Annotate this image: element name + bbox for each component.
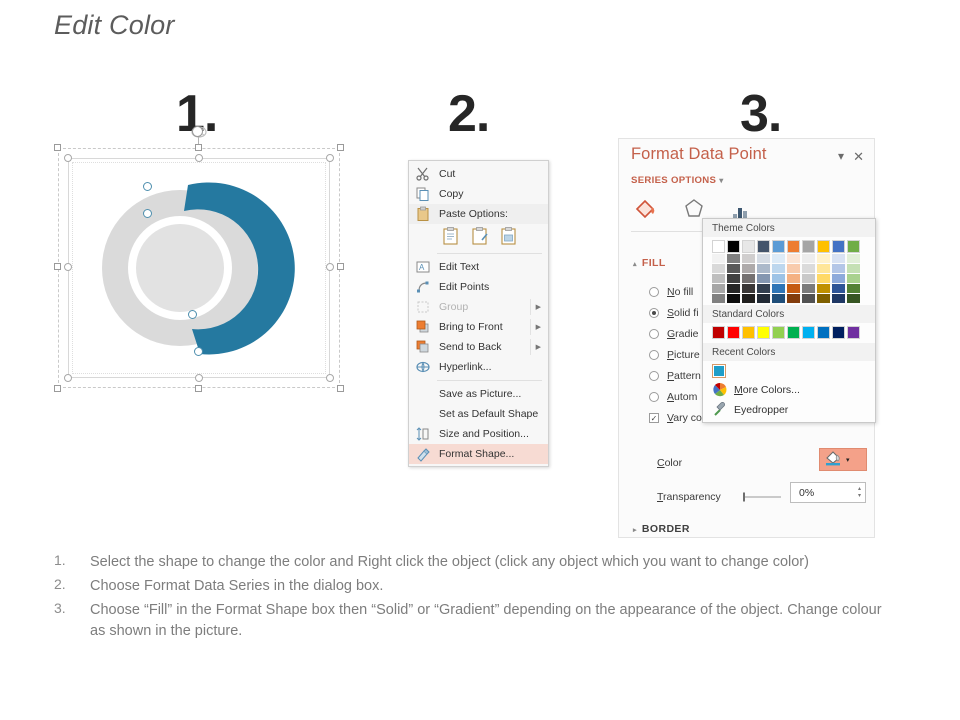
inner-handle-n[interactable] (195, 154, 203, 162)
theme-color-column[interactable] (772, 240, 785, 303)
chart-inner-disc (136, 224, 224, 312)
arc-handle-top[interactable] (143, 182, 152, 191)
size-position-icon (415, 426, 431, 442)
theme-color-column[interactable] (742, 240, 755, 303)
spinner-arrows[interactable]: ▴ ▾ (858, 484, 861, 501)
fill-option-pattern[interactable]: Pattern (649, 365, 702, 386)
scissors-icon (415, 166, 431, 182)
theme-color-variant-swatch[interactable] (727, 294, 740, 303)
fill-option-label: Solid fi (667, 307, 699, 319)
menu-item-eyedropper[interactable]: Eyedropper (703, 400, 875, 420)
border-label: BORDER (642, 523, 690, 535)
fill-option-picture[interactable]: Picture (649, 344, 702, 365)
format-shape-icon (415, 446, 431, 462)
standard-color-swatch[interactable] (832, 326, 845, 339)
clipboard-icon (415, 206, 431, 222)
resize-handle-sw[interactable] (54, 385, 61, 392)
inner-handle-w[interactable] (64, 263, 72, 271)
theme-color-variant-swatch[interactable] (802, 294, 815, 303)
instruction-number: 2. (54, 576, 90, 597)
fill-option-automatic[interactable]: Autom (649, 386, 702, 407)
theme-color-variant-swatch[interactable] (787, 294, 800, 303)
theme-color-column[interactable] (712, 240, 725, 303)
submenu-divider (530, 339, 531, 355)
theme-color-swatch[interactable] (847, 240, 860, 253)
theme-color-variant-swatch[interactable] (787, 254, 800, 263)
menu-separator (437, 253, 542, 254)
menu-item-cut[interactable]: Cut (409, 164, 548, 184)
fill-label: FILL (642, 257, 666, 269)
theme-color-variant-swatch[interactable] (772, 264, 785, 273)
color-picker-dropdown[interactable]: Theme Colors Standard Colors Recent Colo… (702, 218, 876, 423)
menu-item-label: Edit Points (439, 281, 489, 293)
inner-handle-s[interactable] (195, 374, 203, 382)
theme-color-swatch[interactable] (802, 240, 815, 253)
edit-text-icon: A (415, 259, 431, 275)
chevron-right-icon: ▶ (536, 303, 541, 311)
theme-color-variant-swatch[interactable] (742, 264, 755, 273)
theme-color-column[interactable] (817, 240, 830, 303)
standard-color-swatch[interactable] (802, 326, 815, 339)
theme-color-variant-swatch[interactable] (847, 264, 860, 273)
theme-color-variant-swatch[interactable] (727, 254, 740, 263)
theme-color-variant-swatch[interactable] (802, 264, 815, 273)
menu-item-format-shape[interactable]: Format Shape... (409, 444, 548, 464)
svg-text:A: A (419, 263, 425, 272)
theme-color-column[interactable] (832, 240, 845, 303)
theme-color-variant-swatch[interactable] (832, 274, 845, 283)
radio-pattern[interactable] (649, 371, 659, 381)
fill-option-label: Gradie (667, 328, 699, 340)
menu-item-label: Save as Picture... (439, 388, 521, 400)
theme-color-variant-swatch[interactable] (787, 264, 800, 273)
transparency-label: Transparency (657, 491, 721, 503)
theme-color-variant-swatch[interactable] (802, 274, 815, 283)
border-section-header[interactable]: ▸BORDER (633, 523, 690, 535)
theme-color-variant-swatch[interactable] (772, 294, 785, 303)
resize-handle-e[interactable] (337, 263, 344, 270)
theme-color-variant-swatch[interactable] (727, 274, 740, 283)
submenu-divider (530, 299, 531, 315)
standard-color-swatch[interactable] (757, 326, 770, 339)
inner-handle-nw[interactable] (64, 154, 72, 162)
menu-item-label: Hyperlink... (439, 361, 492, 373)
theme-color-variant-swatch[interactable] (817, 264, 830, 273)
inner-handle-se[interactable] (326, 374, 334, 382)
standard-color-swatch[interactable] (847, 326, 860, 339)
theme-color-variant-swatch[interactable] (832, 264, 845, 273)
theme-colors-grid[interactable] (703, 237, 875, 305)
chevron-down-icon[interactable]: ▾ (838, 149, 844, 163)
menu-item-size-and-position[interactable]: Size and Position... (409, 424, 548, 444)
menu-item-edit-text[interactable]: A Edit Text (409, 257, 548, 277)
recent-colors-row[interactable] (703, 361, 875, 380)
inner-handle-sw[interactable] (64, 374, 72, 382)
fill-color-button[interactable]: ▾ (819, 448, 867, 471)
fill-section-header[interactable]: ▴FILL (633, 257, 666, 269)
menu-item-label: Format Shape... (439, 448, 514, 460)
transparency-spinner[interactable]: 0% ▴ ▾ (790, 482, 866, 503)
theme-color-swatch[interactable] (742, 240, 755, 253)
theme-color-swatch[interactable] (832, 240, 845, 253)
recent-colors-header: Recent Colors (703, 343, 875, 361)
theme-color-variant-swatch[interactable] (742, 274, 755, 283)
standard-colors-header: Standard Colors (703, 305, 875, 323)
menu-separator (437, 380, 542, 381)
theme-color-variant-swatch[interactable] (772, 254, 785, 263)
bring-to-front-icon (415, 319, 431, 335)
fill-option-label: Autom (667, 391, 697, 403)
menu-item-label: More Colors... (734, 384, 800, 396)
menu-item-label: Send to Back (439, 341, 501, 353)
arc-handle-upper[interactable] (143, 209, 152, 218)
fill-option-gradient[interactable]: Gradie (649, 323, 702, 344)
theme-colors-header: Theme Colors (703, 219, 875, 237)
theme-color-variant-swatch[interactable] (712, 264, 725, 273)
menu-item-label: Paste Options: (439, 208, 508, 220)
series-options-dropdown[interactable]: SERIES OPTIONS▾ (631, 175, 724, 186)
standard-color-swatch[interactable] (742, 326, 755, 339)
menu-item-label: Group (439, 301, 468, 313)
fill-bucket-icon[interactable] (633, 195, 659, 226)
panel-selected-shape[interactable] (58, 148, 340, 388)
doughnut-svg (80, 168, 320, 368)
color-row[interactable]: Color ▾ (657, 457, 867, 469)
theme-color-variant-swatch[interactable] (787, 274, 800, 283)
series-options-label: SERIES OPTIONS (631, 175, 716, 186)
theme-color-variant-swatch[interactable] (847, 294, 860, 303)
radio-picture[interactable] (649, 350, 659, 360)
theme-color-column[interactable] (802, 240, 815, 303)
menu-item-label: Size and Position... (439, 428, 529, 440)
menu-item-label: Cut (439, 168, 455, 180)
instruction-number: 1. (54, 552, 90, 573)
standard-colors-row[interactable] (703, 323, 875, 343)
theme-color-variant-swatch[interactable] (772, 274, 785, 283)
transparency-row[interactable]: Transparency 0% ▴ ▾ (657, 491, 872, 503)
chevron-right-icon: ▶ (536, 323, 541, 331)
paste-picture-button[interactable] (499, 226, 519, 246)
theme-color-variant-swatch[interactable] (832, 284, 845, 293)
theme-color-swatch[interactable] (712, 240, 725, 253)
theme-color-variant-swatch[interactable] (817, 254, 830, 263)
theme-color-variant-swatch[interactable] (712, 294, 725, 303)
transparency-value: 0% (799, 487, 814, 499)
theme-color-swatch[interactable] (727, 240, 740, 253)
menu-item-paste-options: Paste Options: (409, 204, 548, 224)
theme-color-variant-swatch[interactable] (742, 284, 755, 293)
instruction-text: Select the shape to change the color and… (90, 552, 809, 573)
vary-colors-row[interactable]: ✓ Vary co (649, 407, 702, 428)
fill-option-no-fill[interactable]: No fill (649, 281, 702, 302)
checkbox-vary-colors[interactable]: ✓ (649, 413, 659, 423)
close-icon[interactable]: ✕ (853, 149, 864, 165)
edit-points-icon (415, 279, 431, 295)
standard-color-swatch[interactable] (817, 326, 830, 339)
menu-item-more-colors[interactable]: More Colors... (703, 380, 875, 400)
pane-title: Format Data Point (631, 145, 767, 164)
radio-no-fill[interactable] (649, 287, 659, 297)
fill-option-solid-fill[interactable]: Solid fi (649, 302, 702, 323)
theme-color-column[interactable] (787, 240, 800, 303)
chevron-up-icon: ▴ (633, 261, 637, 268)
instruction-item-2: 2. Choose Format Data Series in the dial… (54, 576, 894, 597)
resize-handle-n[interactable] (195, 144, 202, 151)
transparency-slider[interactable] (745, 497, 781, 498)
fill-options-group[interactable]: No fill Solid fi Gradie Picture Pattern … (649, 281, 702, 428)
theme-color-variant-swatch[interactable] (847, 274, 860, 283)
chevron-down-icon: ▾ (846, 456, 850, 464)
theme-color-variant-swatch[interactable] (802, 254, 815, 263)
menu-item-label: Eyedropper (734, 404, 788, 416)
instruction-item-1: 1. Select the shape to change the color … (54, 552, 894, 573)
instruction-list: 1. Select the shape to change the color … (54, 552, 894, 642)
theme-color-column[interactable] (727, 240, 740, 303)
send-to-back-icon (415, 339, 431, 355)
theme-color-variant-swatch[interactable] (742, 294, 755, 303)
step-number-3: 3. (740, 88, 781, 140)
standard-color-swatch[interactable] (787, 326, 800, 339)
theme-color-variant-swatch[interactable] (832, 294, 845, 303)
menu-item-send-to-back[interactable]: Send to Back ▶ (409, 337, 548, 357)
theme-color-swatch[interactable] (787, 240, 800, 253)
theme-color-variant-swatch[interactable] (757, 254, 770, 263)
theme-color-variant-swatch[interactable] (832, 254, 845, 263)
resize-handle-nw[interactable] (54, 144, 61, 151)
recent-color-swatch[interactable] (712, 364, 726, 378)
paste-options-row[interactable] (409, 224, 548, 250)
theme-color-swatch[interactable] (817, 240, 830, 253)
theme-color-column[interactable] (757, 240, 770, 303)
theme-color-variant-swatch[interactable] (847, 284, 860, 293)
hyperlink-icon (415, 359, 431, 375)
eyedropper-icon (712, 402, 728, 418)
fill-option-label: No fill (667, 286, 693, 298)
context-menu[interactable]: Cut Copy Paste Options: (408, 160, 549, 467)
theme-color-variant-swatch[interactable] (712, 284, 725, 293)
theme-color-swatch[interactable] (757, 240, 770, 253)
menu-item-hyperlink[interactable]: Hyperlink... (409, 357, 548, 377)
spinner-up-icon[interactable]: ▴ (858, 486, 861, 493)
chevron-down-icon: ▾ (719, 176, 723, 185)
fill-option-label: Pattern (667, 370, 701, 382)
radio-gradient[interactable] (649, 329, 659, 339)
theme-color-variant-swatch[interactable] (742, 254, 755, 263)
copy-icon (415, 186, 431, 202)
chevron-right-icon: ▸ (633, 527, 637, 534)
theme-color-variant-swatch[interactable] (727, 264, 740, 273)
menu-item-label: Edit Text (439, 261, 479, 273)
instruction-item-3: 3. Choose “Fill” in the Format Shape box… (54, 600, 894, 642)
radio-automatic[interactable] (649, 392, 659, 402)
menu-item-label: Bring to Front (439, 321, 503, 333)
spinner-down-icon[interactable]: ▾ (858, 493, 861, 500)
theme-color-variant-swatch[interactable] (727, 284, 740, 293)
step-number-2: 2. (448, 88, 489, 140)
page-title: Edit Color (54, 10, 175, 41)
menu-item-label: Set as Default Shape (439, 408, 538, 420)
theme-color-column[interactable] (847, 240, 860, 303)
menu-item-group: Group ▶ (409, 297, 548, 317)
menu-item-label: Copy (439, 188, 464, 200)
theme-color-variant-swatch[interactable] (847, 254, 860, 263)
menu-item-copy[interactable]: Copy (409, 184, 548, 204)
doughnut-chart[interactable] (80, 168, 320, 368)
instruction-text: Choose “Fill” in the Format Shape box th… (90, 600, 894, 642)
theme-color-variant-swatch[interactable] (802, 284, 815, 293)
inner-handle-e[interactable] (326, 263, 334, 271)
standard-color-swatch[interactable] (712, 326, 725, 339)
inner-handle-ne[interactable] (326, 154, 334, 162)
color-label: Color (657, 457, 682, 469)
rotation-handle[interactable] (192, 126, 203, 137)
theme-color-variant-swatch[interactable] (712, 274, 725, 283)
chevron-right-icon: ▶ (536, 343, 541, 351)
color-wheel-icon (712, 382, 728, 398)
resize-handle-s[interactable] (195, 385, 202, 392)
menu-item-save-as-picture[interactable]: Save as Picture... (409, 384, 548, 404)
theme-color-variant-swatch[interactable] (757, 264, 770, 273)
standard-color-swatch[interactable] (772, 326, 785, 339)
menu-item-set-as-default-shape[interactable]: Set as Default Shape (409, 404, 548, 424)
theme-color-swatch[interactable] (772, 240, 785, 253)
paste-merge-formatting-button[interactable] (470, 226, 490, 246)
submenu-divider (530, 319, 531, 335)
paint-bucket-icon (824, 449, 842, 471)
theme-color-variant-swatch[interactable] (757, 284, 770, 293)
instruction-number: 3. (54, 600, 90, 642)
standard-color-swatch[interactable] (727, 326, 740, 339)
theme-color-variant-swatch[interactable] (787, 284, 800, 293)
menu-item-edit-points[interactable]: Edit Points (409, 277, 548, 297)
menu-item-bring-to-front[interactable]: Bring to Front ▶ (409, 317, 548, 337)
theme-color-variant-swatch[interactable] (757, 294, 770, 303)
fill-option-label: Picture (667, 349, 700, 361)
resize-handle-ne[interactable] (337, 144, 344, 151)
theme-color-variant-swatch[interactable] (817, 274, 830, 283)
arc-handle-end[interactable] (194, 347, 203, 356)
radio-solid-fill[interactable] (649, 308, 659, 318)
resize-handle-se[interactable] (337, 385, 344, 392)
theme-color-variant-swatch[interactable] (817, 294, 830, 303)
vary-colors-label: Vary co (667, 412, 702, 424)
resize-handle-w[interactable] (54, 263, 61, 270)
paste-keep-formatting-button[interactable] (441, 226, 461, 246)
slide-canvas: Edit Color 1. 2. 3. (0, 0, 960, 720)
group-icon (415, 299, 431, 315)
arc-handle-lower[interactable] (188, 310, 197, 319)
theme-color-variant-swatch[interactable] (712, 254, 725, 263)
theme-color-variant-swatch[interactable] (772, 284, 785, 293)
instruction-text: Choose Format Data Series in the dialog … (90, 576, 383, 597)
theme-color-variant-swatch[interactable] (817, 284, 830, 293)
theme-color-variant-swatch[interactable] (757, 274, 770, 283)
